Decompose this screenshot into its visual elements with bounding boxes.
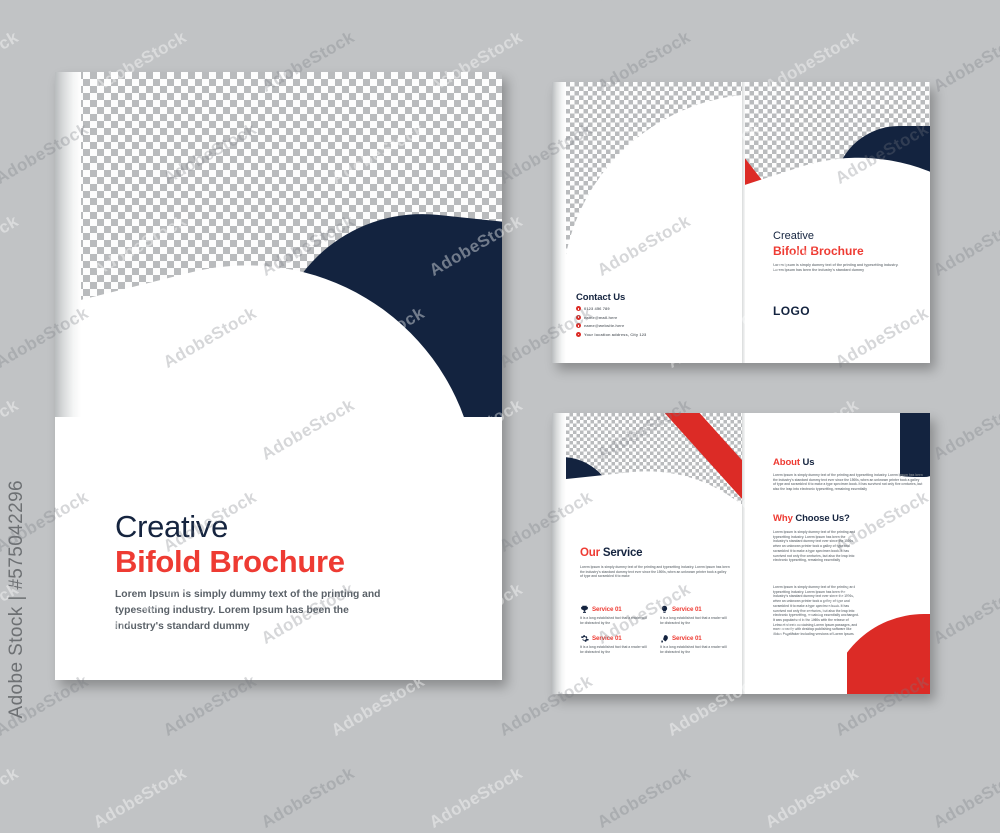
stock-id-label: Adobe Stock | #575042296 — [6, 480, 28, 719]
gear-icon — [580, 634, 589, 643]
cover-panel: Creative Bifold Brochure Lorem Ipsum is … — [55, 72, 502, 680]
backcover-title-line1: Creative — [773, 230, 814, 242]
service-heading-red: Our — [580, 547, 600, 559]
service-item-name: Service 01 — [592, 635, 622, 642]
service-item-name: Service 01 — [672, 635, 702, 642]
why-body-1: Lorem Ipsum is simply dummy text of the … — [773, 530, 861, 563]
spread-fold-line — [742, 413, 745, 694]
cover-title-line1: Creative — [115, 509, 228, 545]
service-item[interactable]: Service 01 It is a long established fact… — [660, 605, 730, 626]
contact-list: 0123 456 789 name@mail.here name@website… — [576, 306, 696, 337]
watermark-text: AdobeStock — [90, 763, 190, 832]
service-item-name: Service 01 — [592, 606, 622, 613]
watermark-text: AdobeStock — [930, 579, 1000, 648]
watermark-text: AdobeStock — [0, 211, 22, 280]
watermark-text: AdobeStock — [594, 763, 694, 832]
about-heading: About Us — [773, 457, 814, 468]
watermark-text: AdobeStock — [762, 763, 862, 832]
service-item-body: It is a long established fact that a rea… — [580, 645, 650, 654]
watermark-text: AdobeStock — [930, 211, 1000, 280]
contact-item[interactable]: name@mail.here — [576, 315, 696, 320]
mail-icon — [576, 315, 581, 320]
page-fold-sheen — [552, 82, 566, 363]
watermark-text: AdobeStock — [930, 0, 1000, 5]
watermark-text: AdobeStock — [0, 763, 22, 832]
spread-fold-line — [742, 82, 745, 363]
service-item-body: It is a long established fact that a rea… — [580, 616, 650, 625]
why-body-2: Lorem Ipsum is simply dummy text of the … — [773, 585, 861, 637]
watermark-text: AdobeStock — [930, 27, 1000, 96]
watermark-text: AdobeStock — [762, 0, 862, 5]
service-heading: Our Service — [580, 547, 642, 559]
inside-spread-top: Contact Us 0123 456 789 name@mail.here n… — [552, 82, 930, 363]
cover-title-line2: Bifold Brochure — [115, 544, 345, 580]
page-fold-sheen — [552, 413, 566, 694]
service-item[interactable]: Service 01 It is a long established fact… — [580, 605, 650, 626]
watermark-text: AdobeStock — [0, 0, 22, 5]
watermark-text: AdobeStock — [160, 671, 260, 740]
watermark-text: AdobeStock — [258, 763, 358, 832]
contact-item-text: 0123 456 789 — [584, 306, 610, 311]
service-item[interactable]: Service 01 It is a long established fact… — [660, 634, 730, 655]
watermark-text: AdobeStock — [594, 0, 694, 5]
watermark-text: AdobeStock — [0, 395, 22, 464]
contact-item-text: Your location address, City 123 — [584, 332, 646, 337]
watermark-text: AdobeStock — [426, 763, 526, 832]
why-heading-red: Why — [773, 513, 793, 524]
watermark-text: AdobeStock — [328, 671, 428, 740]
service-item[interactable]: Service 01 It is a long established fact… — [580, 634, 650, 655]
why-heading: Why Choose Us? — [773, 513, 850, 524]
contact-heading: Contact Us — [576, 292, 696, 303]
spread-top-left-page: Contact Us 0123 456 789 name@mail.here n… — [552, 82, 742, 363]
about-body: Lorem Ipsum is simply dummy text of the … — [773, 473, 923, 492]
contact-item-text: name@mail.here — [584, 315, 617, 320]
cover-artwork — [55, 72, 502, 417]
service-blurb: Lorem Ipsum is simply dummy text of the … — [580, 565, 730, 579]
why-heading-navy: Choose Us? — [795, 513, 849, 524]
white-base — [552, 509, 742, 694]
spread-bottom-right-page: About Us Lorem Ipsum is simply dummy tex… — [745, 413, 930, 694]
service-grid: Service 01 It is a long established fact… — [580, 605, 730, 654]
watermark-text: AdobeStock — [426, 0, 526, 5]
backcover-title-line2: Bifold Brochure — [773, 244, 864, 258]
backcover-subtitle: Lorem Ipsum is simply dummy text of the … — [773, 263, 905, 273]
about-heading-navy: Us — [802, 457, 814, 468]
phone-icon — [576, 306, 581, 311]
contact-item[interactable]: 0123 456 789 — [576, 306, 696, 311]
contact-item[interactable]: Your location address, City 123 — [576, 332, 696, 337]
cover-subtitle: Lorem Ipsum is simply dummy text of the … — [115, 587, 400, 635]
service-heading-navy: Service — [603, 547, 643, 559]
about-heading-red: About — [773, 457, 800, 468]
watermark-text: AdobeStock — [930, 763, 1000, 832]
trophy-icon — [580, 605, 589, 614]
contact-item-text: name@website.here — [584, 323, 624, 328]
service-item-body: It is a long established fact that a rea… — [660, 616, 730, 625]
rocket-icon — [660, 634, 669, 643]
location-icon — [576, 332, 581, 337]
contact-block: Contact Us 0123 456 789 name@mail.here n… — [576, 292, 696, 337]
backcover-logo: LOGO — [773, 304, 810, 318]
cover-logo: LOGO — [115, 678, 197, 680]
globe-icon — [576, 323, 581, 328]
service-item-body: It is a long established fact that a rea… — [660, 645, 730, 654]
inside-spread-bottom: Our Service Lorem Ipsum is simply dummy … — [552, 413, 930, 694]
bulb-icon — [660, 605, 669, 614]
watermark-text: AdobeStock — [0, 27, 22, 96]
contact-item[interactable]: name@website.here — [576, 323, 696, 328]
watermark-text: AdobeStock — [90, 0, 190, 5]
watermark-text: AdobeStock — [930, 395, 1000, 464]
watermark-text: AdobeStock — [258, 0, 358, 5]
service-item-name: Service 01 — [672, 606, 702, 613]
spread-bottom-left-page: Our Service Lorem Ipsum is simply dummy … — [552, 413, 742, 694]
spread-top-right-page: Creative Bifold Brochure Lorem Ipsum is … — [745, 82, 930, 363]
